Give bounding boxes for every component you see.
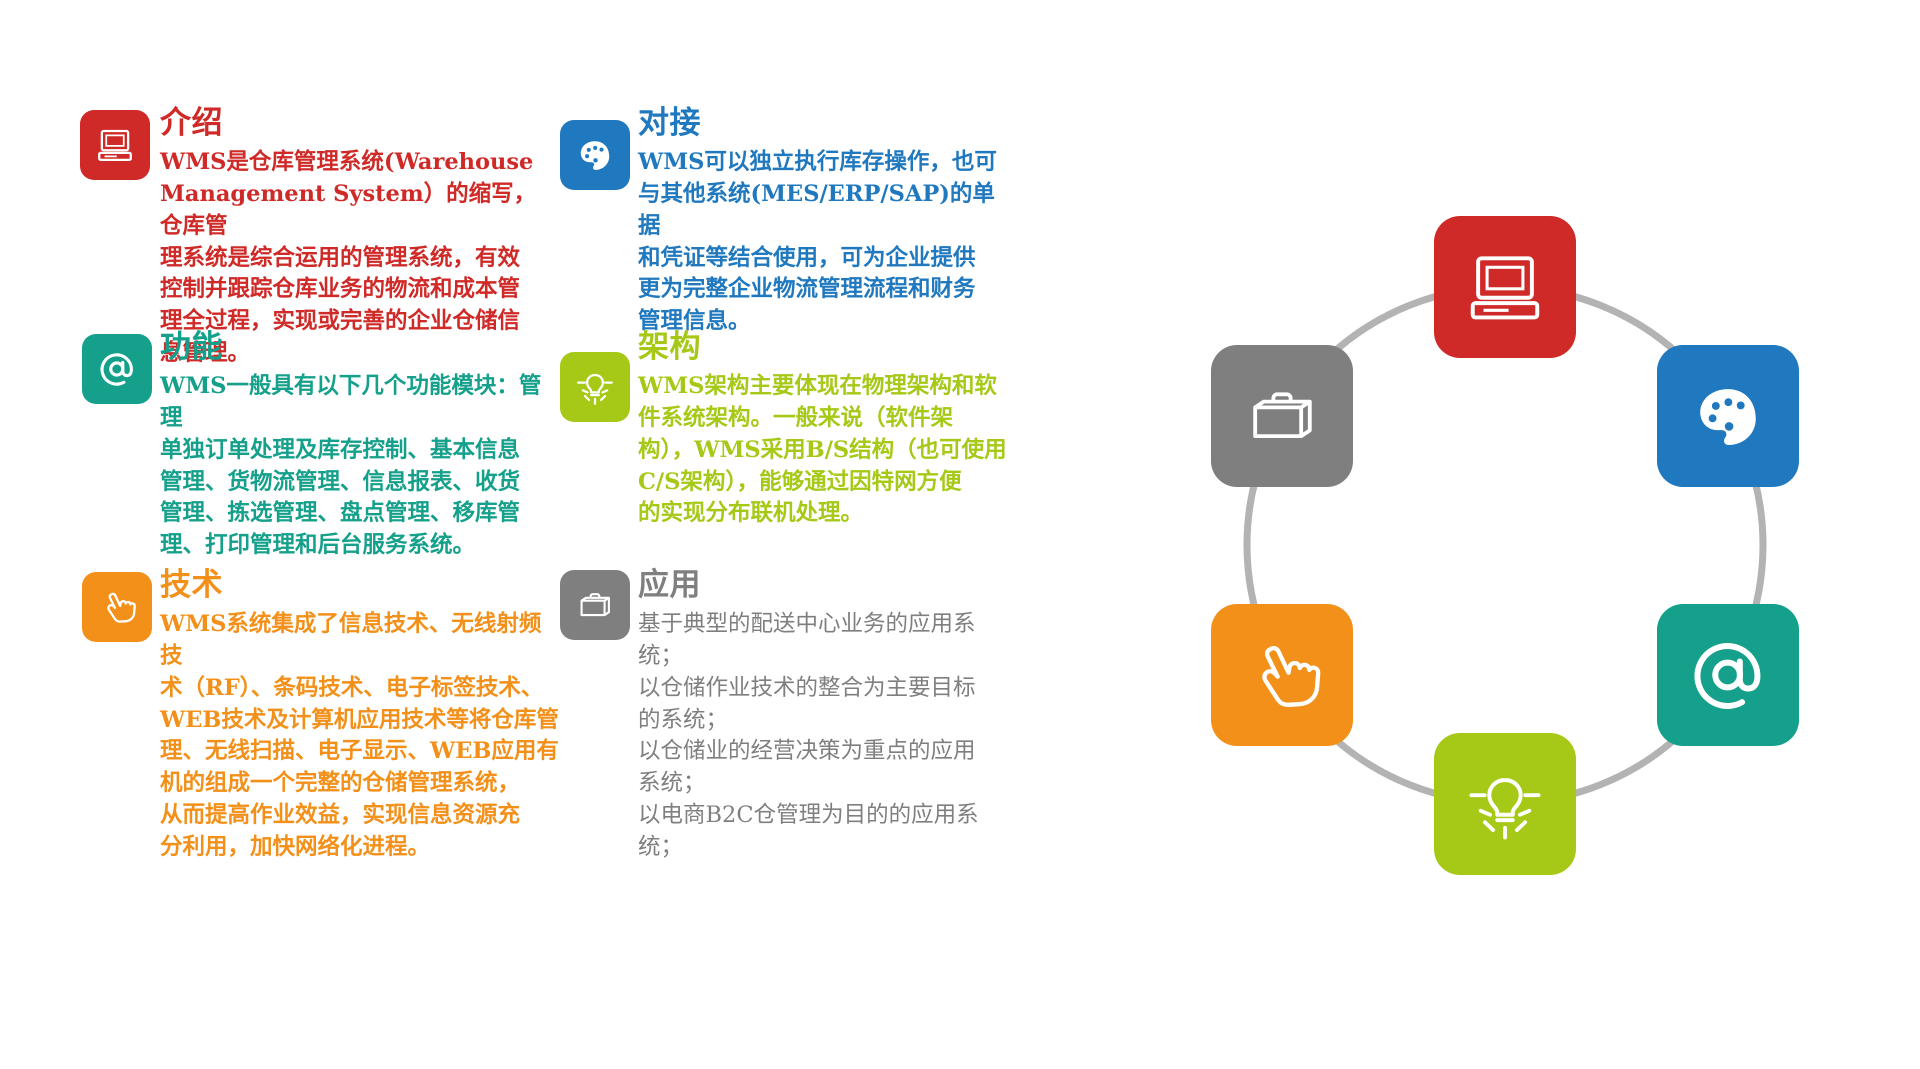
diagram-node-at xyxy=(1657,604,1799,746)
circular-diagram xyxy=(1175,215,1835,875)
section-body-function: WMS一般具有以下几个功能模块：管理 单独订单处理及库存控制、基本信息 管理、货… xyxy=(160,371,560,563)
section-body-application: 基于典型的配送中心业务的应用系 统； 以仓储作业技术的整合为主要目标 的系统； … xyxy=(638,609,1018,865)
diagram-node-briefcase xyxy=(1211,345,1353,487)
section-title-technology: 技术 xyxy=(160,568,560,603)
pointing-hand-icon xyxy=(1237,630,1327,720)
palette-icon xyxy=(1685,373,1771,459)
monitor-icon xyxy=(1462,244,1548,330)
section-application: 应用 基于典型的配送中心业务的应用系 统； 以仓储作业技术的整合为主要目标 的系… xyxy=(638,568,1018,864)
briefcase-icon-tile-application xyxy=(560,570,630,640)
section-title-intro: 介绍 xyxy=(160,106,550,141)
section-body-technology: WMS系统集成了信息技术、无线射频技 术（RF）、条码技术、电子标签技术、 WE… xyxy=(160,609,560,865)
at-icon xyxy=(1683,630,1773,720)
briefcase-icon xyxy=(1236,370,1328,462)
section-title-integration: 对接 xyxy=(638,106,1008,141)
section-architecture: 架构 WMS架构主要体现在物理架构和软 件系统架构。一般来说（软件架 构），WM… xyxy=(638,330,1018,530)
monitor-icon-tile-intro xyxy=(80,110,150,180)
section-body-integration: WMS可以独立执行库存操作，也可 与其他系统(MES/ERP/SAP)的单据 和… xyxy=(638,147,1008,339)
section-title-function: 功能 xyxy=(160,330,560,365)
diagram-node-lightbulb xyxy=(1434,733,1576,875)
diagram-node-pointing-hand xyxy=(1211,604,1353,746)
section-technology: 技术 WMS系统集成了信息技术、无线射频技 术（RF）、条码技术、电子标签技术、… xyxy=(160,568,560,864)
briefcase-icon xyxy=(572,582,618,628)
lightbulb-icon xyxy=(1459,758,1551,850)
lightbulb-icon-tile-architecture xyxy=(560,352,630,422)
infographic-canvas: 介绍 WMS是仓库管理系统(Warehouse Management Syste… xyxy=(0,0,1920,1069)
at-icon xyxy=(95,347,139,391)
section-title-architecture: 架构 xyxy=(638,330,1018,365)
section-integration: 对接 WMS可以独立执行库存操作，也可 与其他系统(MES/ERP/SAP)的单… xyxy=(638,106,1008,338)
pointing-hand-icon xyxy=(95,585,139,629)
pointing-hand-icon-tile-technology xyxy=(82,572,152,642)
at-icon-tile-function xyxy=(82,334,152,404)
monitor-icon xyxy=(94,124,136,166)
palette-icon-tile-integration xyxy=(560,120,630,190)
lightbulb-icon xyxy=(572,364,618,410)
palette-icon xyxy=(573,133,617,177)
section-function: 功能 WMS一般具有以下几个功能模块：管理 单独订单处理及库存控制、基本信息 管… xyxy=(160,330,560,562)
section-title-application: 应用 xyxy=(638,568,1018,603)
diagram-node-monitor xyxy=(1434,216,1576,358)
diagram-node-palette xyxy=(1657,345,1799,487)
section-body-architecture: WMS架构主要体现在物理架构和软 件系统架构。一般来说（软件架 构），WMS采用… xyxy=(638,371,1018,531)
